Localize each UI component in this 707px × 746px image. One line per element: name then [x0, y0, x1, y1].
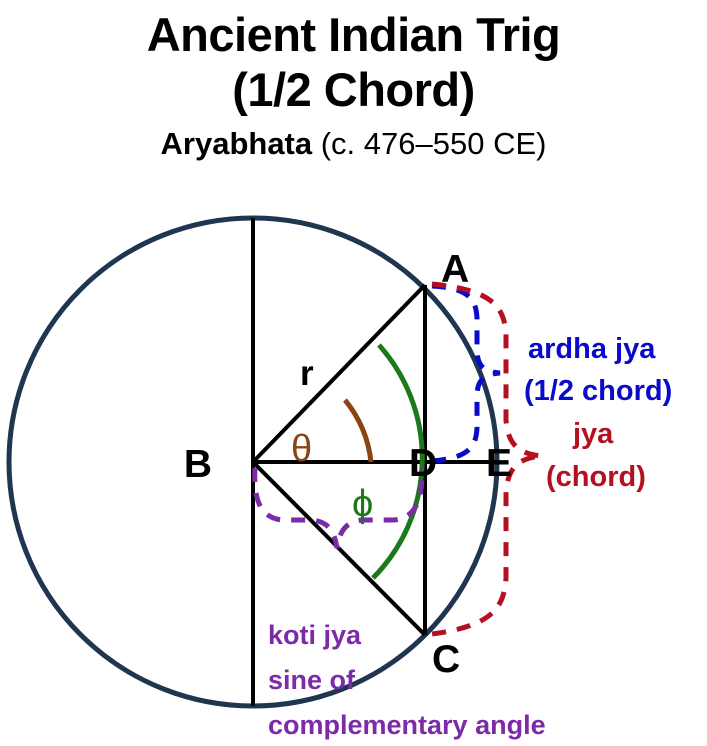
point-label-C: C — [432, 638, 460, 681]
ardha-jya-label-line2: (1/2 chord) — [524, 375, 672, 407]
point-label-D: D — [409, 442, 437, 485]
jya-label-line2: (chord) — [546, 461, 646, 493]
theta-label: θ — [291, 428, 312, 470]
theta-arc — [345, 400, 371, 462]
geometry-svg: A B C D E r θ ϕ ardha jya (1/2 chord) jy… — [0, 0, 707, 746]
radius-label: r — [300, 354, 314, 393]
koti-jya-label-line3: complementary angle — [268, 710, 546, 740]
point-label-A: A — [441, 248, 469, 291]
koti-jya-brace — [255, 468, 422, 548]
point-label-E: E — [486, 442, 512, 485]
phi-label: ϕ — [352, 483, 373, 525]
ardha-jya-brace — [432, 286, 500, 461]
koti-jya-label-line2: sine of — [268, 665, 356, 695]
diagram-canvas: Ancient Indian Trig (1/2 Chord) Aryabhat… — [0, 0, 707, 746]
ardha-jya-label-line1: ardha jya — [528, 333, 656, 365]
koti-jya-label-line1: koti jya — [268, 620, 362, 650]
point-label-B: B — [184, 443, 212, 486]
jya-label-line1: jya — [572, 418, 614, 450]
